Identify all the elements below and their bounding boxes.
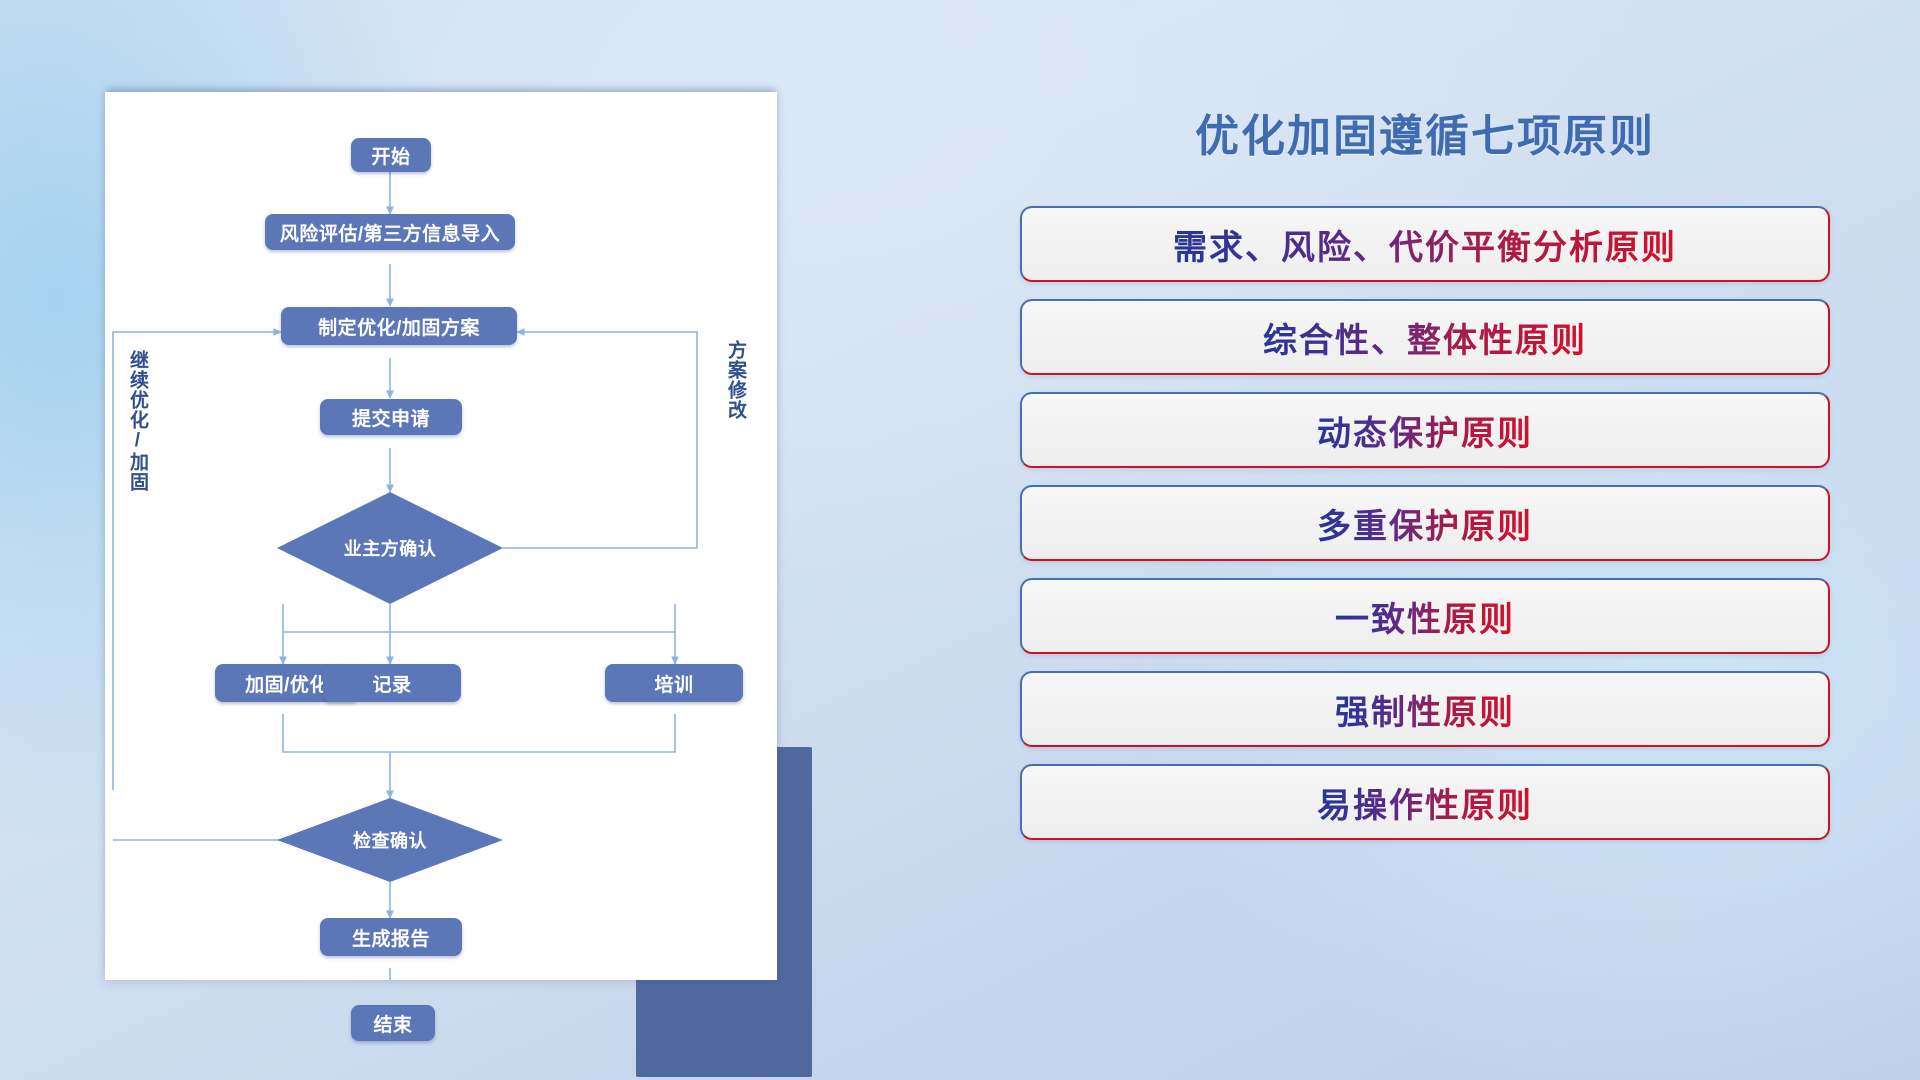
principle-label-1: 需求、风险、代价平衡分析原则 [1173, 220, 1677, 269]
principle-label-5: 一致性原则 [1335, 592, 1515, 641]
node-start-label: 开始 [371, 142, 410, 169]
node-submit-application[interactable]: 提交申请 [320, 399, 462, 435]
principle-label-3: 动态保护原则 [1317, 406, 1533, 455]
principle-card-1[interactable]: 需求、风险、代价平衡分析原则 [1020, 206, 1830, 282]
principle-card-4[interactable]: 多重保护原则 [1020, 485, 1830, 561]
principles-panel: 优化加固遵循七项原则 需求、风险、代价平衡分析原则 综合性、整体性原则 动态保护… [1020, 100, 1830, 857]
node-training-label: 培训 [654, 670, 693, 697]
node-record[interactable]: 记录 [323, 664, 461, 702]
edge-label-scheme-revision: 方案修改 [725, 340, 745, 480]
edge-label-continue-optimize: 继续优化/加固 [127, 350, 147, 530]
node-training[interactable]: 培训 [605, 664, 743, 702]
node-generate-report[interactable]: 生成报告 [320, 918, 462, 956]
principle-label-4: 多重保护原则 [1317, 499, 1533, 548]
principle-label-7: 易操作性原则 [1317, 778, 1533, 827]
principle-card-3[interactable]: 动态保护原则 [1020, 392, 1830, 468]
principle-label-6: 强制性原则 [1335, 685, 1515, 734]
node-end-label: 结束 [373, 1010, 412, 1037]
node-generate-report-label: 生成报告 [352, 924, 430, 951]
node-start[interactable]: 开始 [351, 138, 431, 172]
decision-check-shape [277, 798, 503, 882]
node-risk-assessment-label: 风险评估/第三方信息导入 [280, 219, 500, 246]
flowchart-canvas: 开始 风险评估/第三方信息导入 制定优化/加固方案 提交申请 业主方确认 加固/… [105, 92, 777, 980]
node-make-plan-label: 制定优化/加固方案 [318, 313, 480, 340]
node-submit-application-label: 提交申请 [352, 404, 430, 431]
principle-label-2: 综合性、整体性原则 [1263, 313, 1587, 362]
decision-owner-shape [277, 492, 503, 604]
principle-card-6[interactable]: 强制性原则 [1020, 671, 1830, 747]
edge-label-continue-optimize-text: 继续优化/加固 [127, 350, 148, 492]
principle-card-7[interactable]: 易操作性原则 [1020, 764, 1830, 840]
node-reinforce-optimize-label: 加固/优化 [245, 670, 329, 697]
node-make-plan[interactable]: 制定优化/加固方案 [281, 307, 517, 345]
node-record-label: 记录 [372, 670, 411, 697]
principle-card-2[interactable]: 综合性、整体性原则 [1020, 299, 1830, 375]
principle-card-5[interactable]: 一致性原则 [1020, 578, 1830, 654]
panel-title: 优化加固遵循七项原则 [1020, 100, 1830, 164]
flowchart-region: 开始 风险评估/第三方信息导入 制定优化/加固方案 提交申请 业主方确认 加固/… [105, 92, 785, 982]
node-risk-assessment[interactable]: 风险评估/第三方信息导入 [265, 214, 515, 250]
node-end[interactable]: 结束 [351, 1005, 435, 1041]
edge-label-scheme-revision-text: 方案修改 [725, 340, 746, 420]
